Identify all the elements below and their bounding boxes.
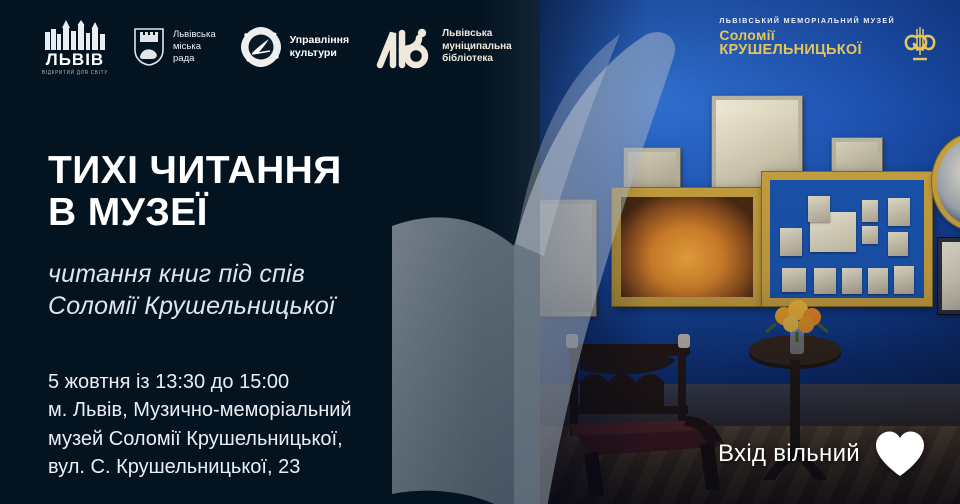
council-logo-text: Львівська міська рада	[173, 29, 216, 65]
museum-logo[interactable]: ЛЬВІВСЬКИЙ МЕМОРІАЛЬНИЙ МУЗЕЙ Соломії КР…	[719, 16, 938, 63]
headline-line-2: В МУЗЕЇ	[48, 192, 342, 234]
subhead-line-2: Соломії Крушельницької	[48, 290, 335, 322]
museum-name-line-1: Соломії	[719, 28, 895, 42]
poster-canvas: ЛЬВІВ ВІДКРИТИЙ ДЛЯ СВІТУ Львівська місь…	[0, 0, 960, 504]
poster-subheadline: читання книг під спів Соломії Крушельниц…	[48, 258, 335, 322]
lyre-monogram-icon	[902, 25, 938, 63]
subhead-line-1: читання книг під спів	[48, 258, 335, 290]
lviv-city-logo[interactable]: ЛЬВІВ ВІДКРИТИЙ ДЛЯ СВІТУ	[38, 20, 112, 75]
free-entry-label: Вхід вільний	[718, 440, 860, 468]
heart-icon	[874, 430, 926, 478]
lviv-wordmark: ЛЬВІВ	[46, 51, 104, 68]
museum-logo-text: ЛЬВІВСЬКИЙ МЕМОРІАЛЬНИЙ МУЗЕЙ Соломії КР…	[719, 16, 895, 58]
photo-vignette	[540, 0, 960, 504]
library-logo-text: Львівська муніципальна бібліотека	[442, 28, 512, 66]
coat-of-arms-shield-icon	[134, 28, 164, 66]
culture-department-logo[interactable]: Управління культури	[240, 26, 349, 68]
museum-interior-photo	[540, 0, 960, 504]
event-details: 5 жовтня із 13:30 до 15:00 м. Львів, Муз…	[48, 368, 352, 482]
lviv-tagline: ВІДКРИТИЙ ДЛЯ СВІТУ	[42, 69, 108, 75]
poster-headline: ТИХІ ЧИТАННЯ В МУЗЕЇ	[48, 150, 342, 233]
culture-line-2: культури	[290, 47, 349, 60]
lmb-monogram-icon	[375, 25, 433, 69]
event-venue-line-2: музей Соломії Крушельницької,	[48, 425, 352, 453]
council-line-2: міська	[173, 41, 216, 53]
city-skyline-icon	[42, 20, 108, 50]
library-line-1: Львівська	[442, 28, 512, 41]
municipal-library-logo[interactable]: Львівська муніципальна бібліотека	[375, 25, 512, 69]
council-line-3: рада	[173, 53, 216, 65]
library-line-2: муніципальна	[442, 41, 512, 54]
culture-line-1: Управління	[290, 34, 349, 47]
museum-kicker: ЛЬВІВСЬКИЙ МЕМОРІАЛЬНИЙ МУЗЕЙ	[719, 16, 895, 25]
council-line-1: Львівська	[173, 29, 216, 41]
headline-line-1: ТИХІ ЧИТАННЯ	[48, 150, 342, 192]
museum-name-line-2: КРУШЕЛЬНИЦЬКОЇ	[719, 43, 895, 58]
culture-logo-text: Управління культури	[290, 34, 349, 60]
event-datetime: 5 жовтня із 13:30 до 15:00	[48, 368, 352, 396]
partner-logo-bar: ЛЬВІВ ВІДКРИТИЙ ДЛЯ СВІТУ Львівська місь…	[38, 14, 518, 80]
event-venue-line-1: м. Львів, Музично-меморіальний	[48, 396, 352, 424]
lviv-city-council-logo[interactable]: Львівська міська рада	[134, 28, 216, 66]
culture-emblem-icon	[240, 26, 282, 68]
library-line-3: бібліотека	[442, 53, 512, 66]
event-address: вул. С. Крушельницької, 23	[48, 453, 352, 481]
free-entry-badge: Вхід вільний	[718, 430, 926, 478]
